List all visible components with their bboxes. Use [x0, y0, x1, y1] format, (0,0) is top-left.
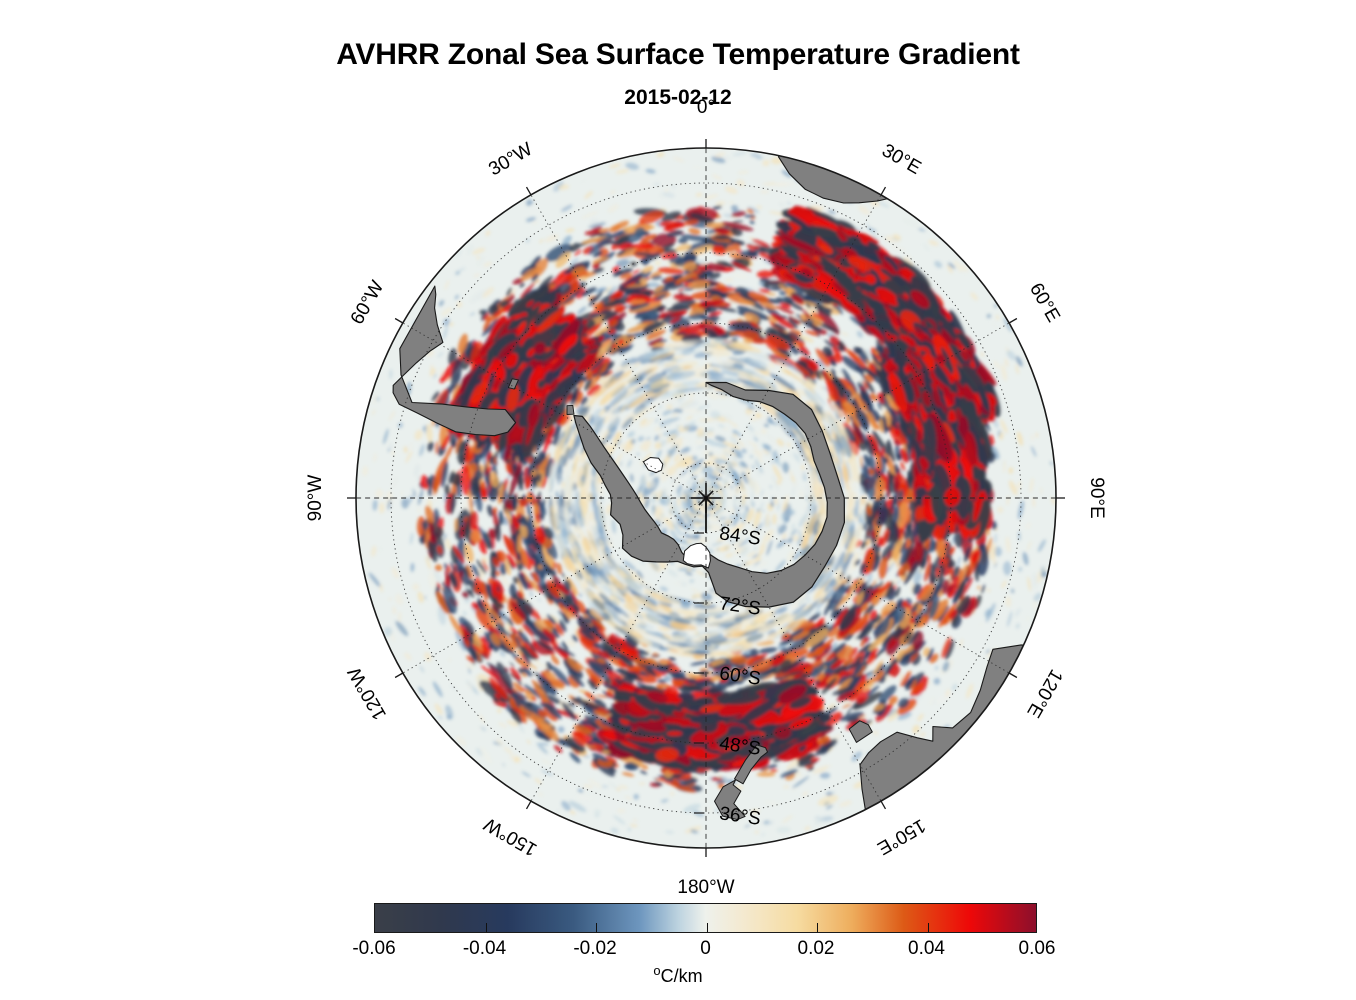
- map-svg: [356, 148, 1056, 848]
- figure-canvas: AVHRR Zonal Sea Surface Temperature Grad…: [0, 0, 1356, 1000]
- gradient-feature: [652, 505, 655, 513]
- gradient-feature: [617, 809, 625, 813]
- gradient-feature: [681, 439, 689, 443]
- gradient-feature: [659, 661, 668, 664]
- figure-subtitle: 2015-02-12: [0, 86, 1356, 110]
- gradient-feature: [744, 214, 755, 217]
- polar-map[interactable]: 0°30°E60°E90°E120°E150°E180°W150°W120°W9…: [356, 148, 1056, 848]
- page-title: AVHRR Zonal Sea Surface Temperature Grad…: [0, 38, 1356, 72]
- gradient-feature: [675, 425, 681, 429]
